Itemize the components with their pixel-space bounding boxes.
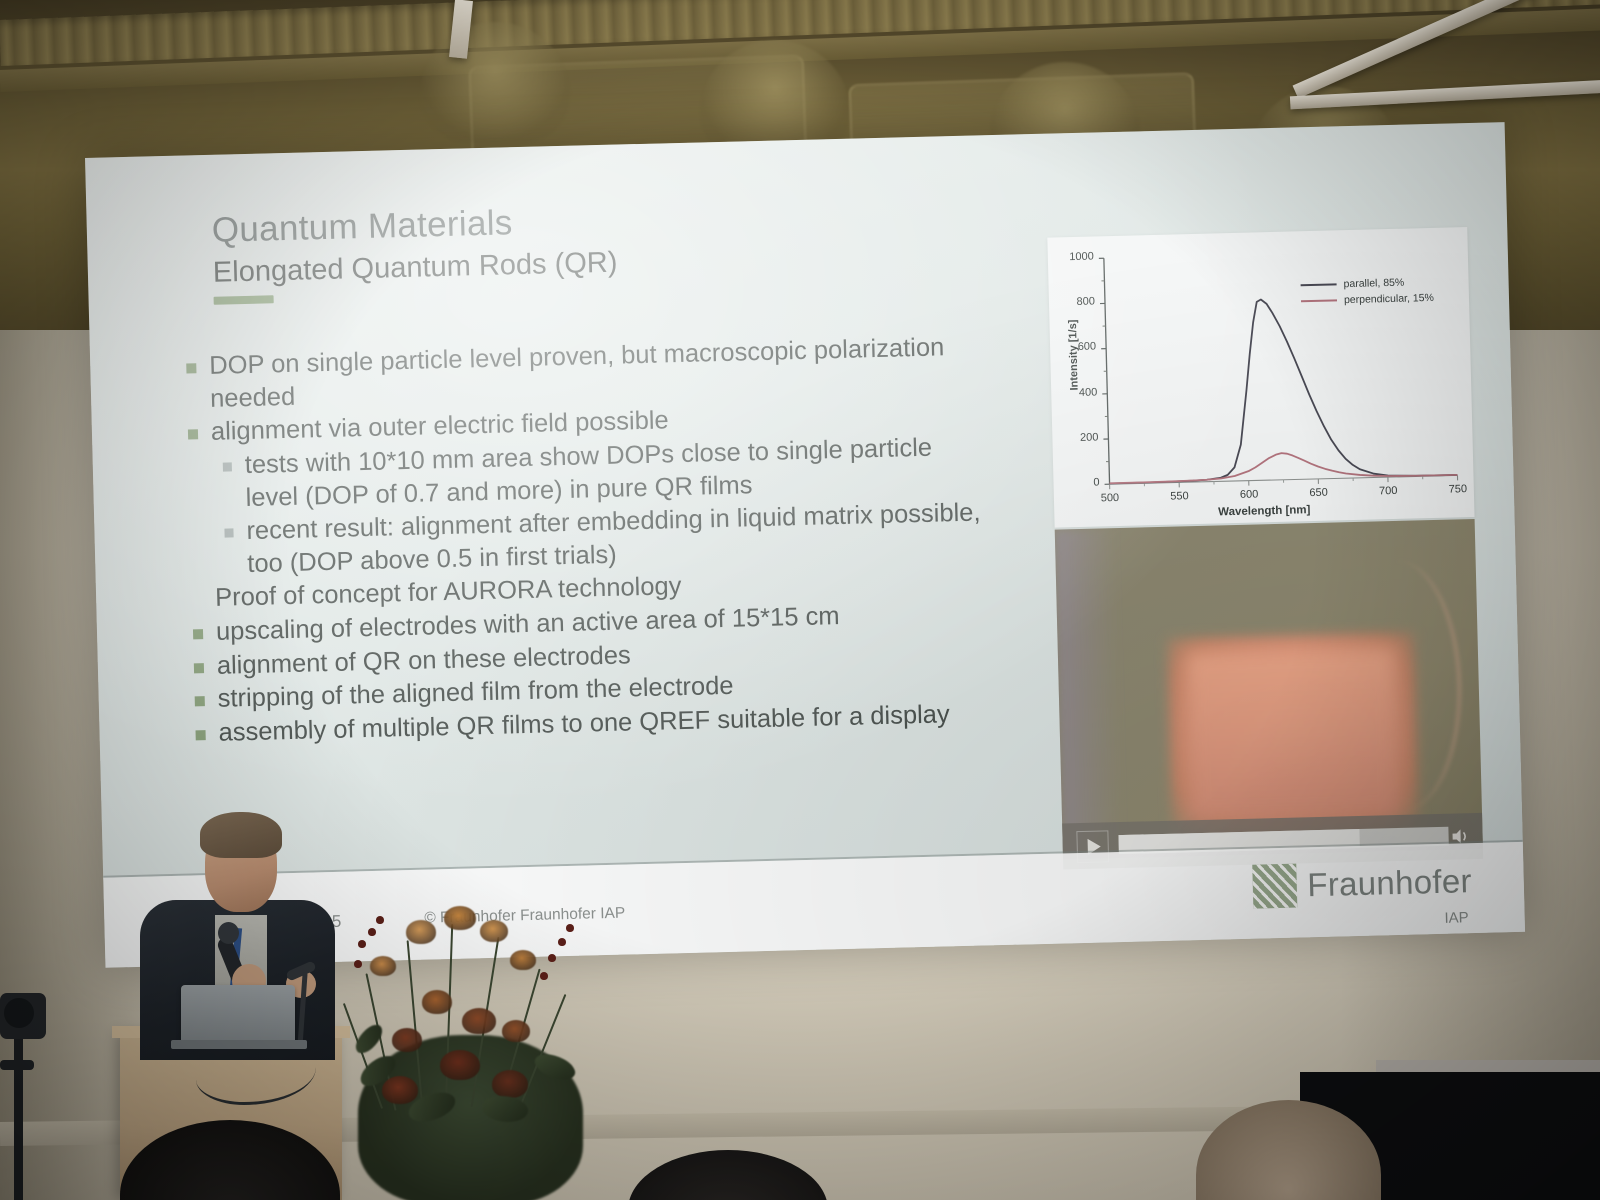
video-camera-lens <box>4 998 34 1028</box>
chart-legend-item: perpendicular, 15% <box>1301 292 1434 307</box>
flower-bloom <box>370 956 396 976</box>
slide-bullet-list: DOP on single particle level proven, but… <box>186 330 996 751</box>
flower-berry <box>368 928 376 936</box>
projection-screen-slide: Quantum Materials Elongated Quantum Rods… <box>85 122 1525 968</box>
camera-tripod-arm <box>0 1060 34 1070</box>
chart-y-axis-label: Intensity [1/s] <box>1067 319 1081 390</box>
title-accent-bar <box>214 295 274 305</box>
flower-leaf <box>531 1047 578 1086</box>
flower-arrangement <box>352 880 582 1200</box>
chart-legend-swatch <box>1301 283 1337 286</box>
flower-bloom <box>440 1050 480 1080</box>
fraunhofer-logo-mark <box>1252 864 1297 909</box>
bullet-marker-green-square <box>188 429 198 439</box>
presenter-laptop-screen <box>181 985 295 1043</box>
fraunhofer-institute-abbrev: IAP <box>1444 909 1469 927</box>
chart-series-line-0 <box>1105 295 1457 484</box>
chart-y-tick-label: 800 <box>1061 296 1095 309</box>
chart-x-tick-label: 700 <box>1370 485 1406 498</box>
chart-x-tick-label: 600 <box>1231 488 1267 501</box>
bullet-marker-green-square <box>194 663 204 673</box>
chart-legend-label: perpendicular, 15% <box>1344 292 1434 306</box>
embedded-video-frame <box>1055 519 1483 860</box>
bullet-marker-green-square <box>195 696 205 706</box>
chart-x-tick-label: 550 <box>1161 490 1197 503</box>
flower-bloom <box>492 1070 528 1098</box>
flower-bloom <box>480 920 508 942</box>
microphone-capsule <box>218 922 239 944</box>
fraunhofer-logo-word: Fraunhofer <box>1307 862 1472 904</box>
chart-svg <box>1047 227 1474 528</box>
bullet-marker-green-square <box>196 730 206 740</box>
flower-bloom <box>382 1076 418 1104</box>
chart-y-tick-label: 1000 <box>1060 251 1094 264</box>
chart-y-tick-label: 400 <box>1063 386 1097 399</box>
chart-legend-swatch <box>1301 299 1337 302</box>
flower-berry <box>540 972 548 980</box>
flower-stem <box>445 924 453 1110</box>
fraunhofer-logo: Fraunhofer <box>1252 859 1472 909</box>
chart-legend-label: parallel, 85% <box>1343 277 1404 291</box>
chart-legend-item: parallel, 85% <box>1300 276 1433 291</box>
chart-plot-area: Intensity [1/s] Wavelength [nm] parallel… <box>1047 227 1474 528</box>
bullet-marker-grey-square <box>224 528 233 537</box>
flower-berry <box>354 960 362 968</box>
flower-berry <box>558 938 566 946</box>
flower-berry <box>358 940 366 948</box>
conference-room-photo: Quantum Materials Elongated Quantum Rods… <box>0 0 1600 1200</box>
slide-subtitle: Elongated Quantum Rods (QR) <box>213 247 618 290</box>
flower-bloom <box>444 906 476 930</box>
video-lens-flare <box>1055 528 1123 859</box>
chart-y-tick-label: 200 <box>1064 431 1098 444</box>
chart-y-tick-label: 0 <box>1065 476 1099 489</box>
flower-bloom <box>406 920 436 944</box>
emission-spectrum-chart: Intensity [1/s] Wavelength [nm] parallel… <box>1047 227 1474 528</box>
chart-legend: parallel, 85%perpendicular, 15% <box>1300 276 1434 311</box>
chart-x-tick-label: 650 <box>1301 486 1337 499</box>
flower-berry <box>566 924 574 932</box>
slide-title: Quantum Materials <box>211 203 513 251</box>
flower-berry <box>376 916 384 924</box>
flower-bloom <box>422 990 452 1014</box>
bullet-marker-none <box>192 596 202 606</box>
flower-berry <box>548 954 556 962</box>
flower-bloom <box>462 1008 496 1034</box>
chart-y-tick-label: 600 <box>1062 341 1096 354</box>
chart-x-tick-label: 500 <box>1092 492 1128 505</box>
flower-bloom <box>502 1020 530 1042</box>
chart-x-tick-label: 750 <box>1440 483 1476 496</box>
bullet-marker-green-square <box>193 629 203 639</box>
chart-series-line-1 <box>1109 449 1458 484</box>
speaker-hair <box>200 812 282 858</box>
flower-bloom <box>392 1028 422 1052</box>
bullet-marker-grey-square <box>223 462 232 471</box>
camera-tripod-pole <box>14 1020 23 1200</box>
flower-bloom <box>510 950 536 970</box>
bullet-marker-green-square <box>186 363 196 373</box>
